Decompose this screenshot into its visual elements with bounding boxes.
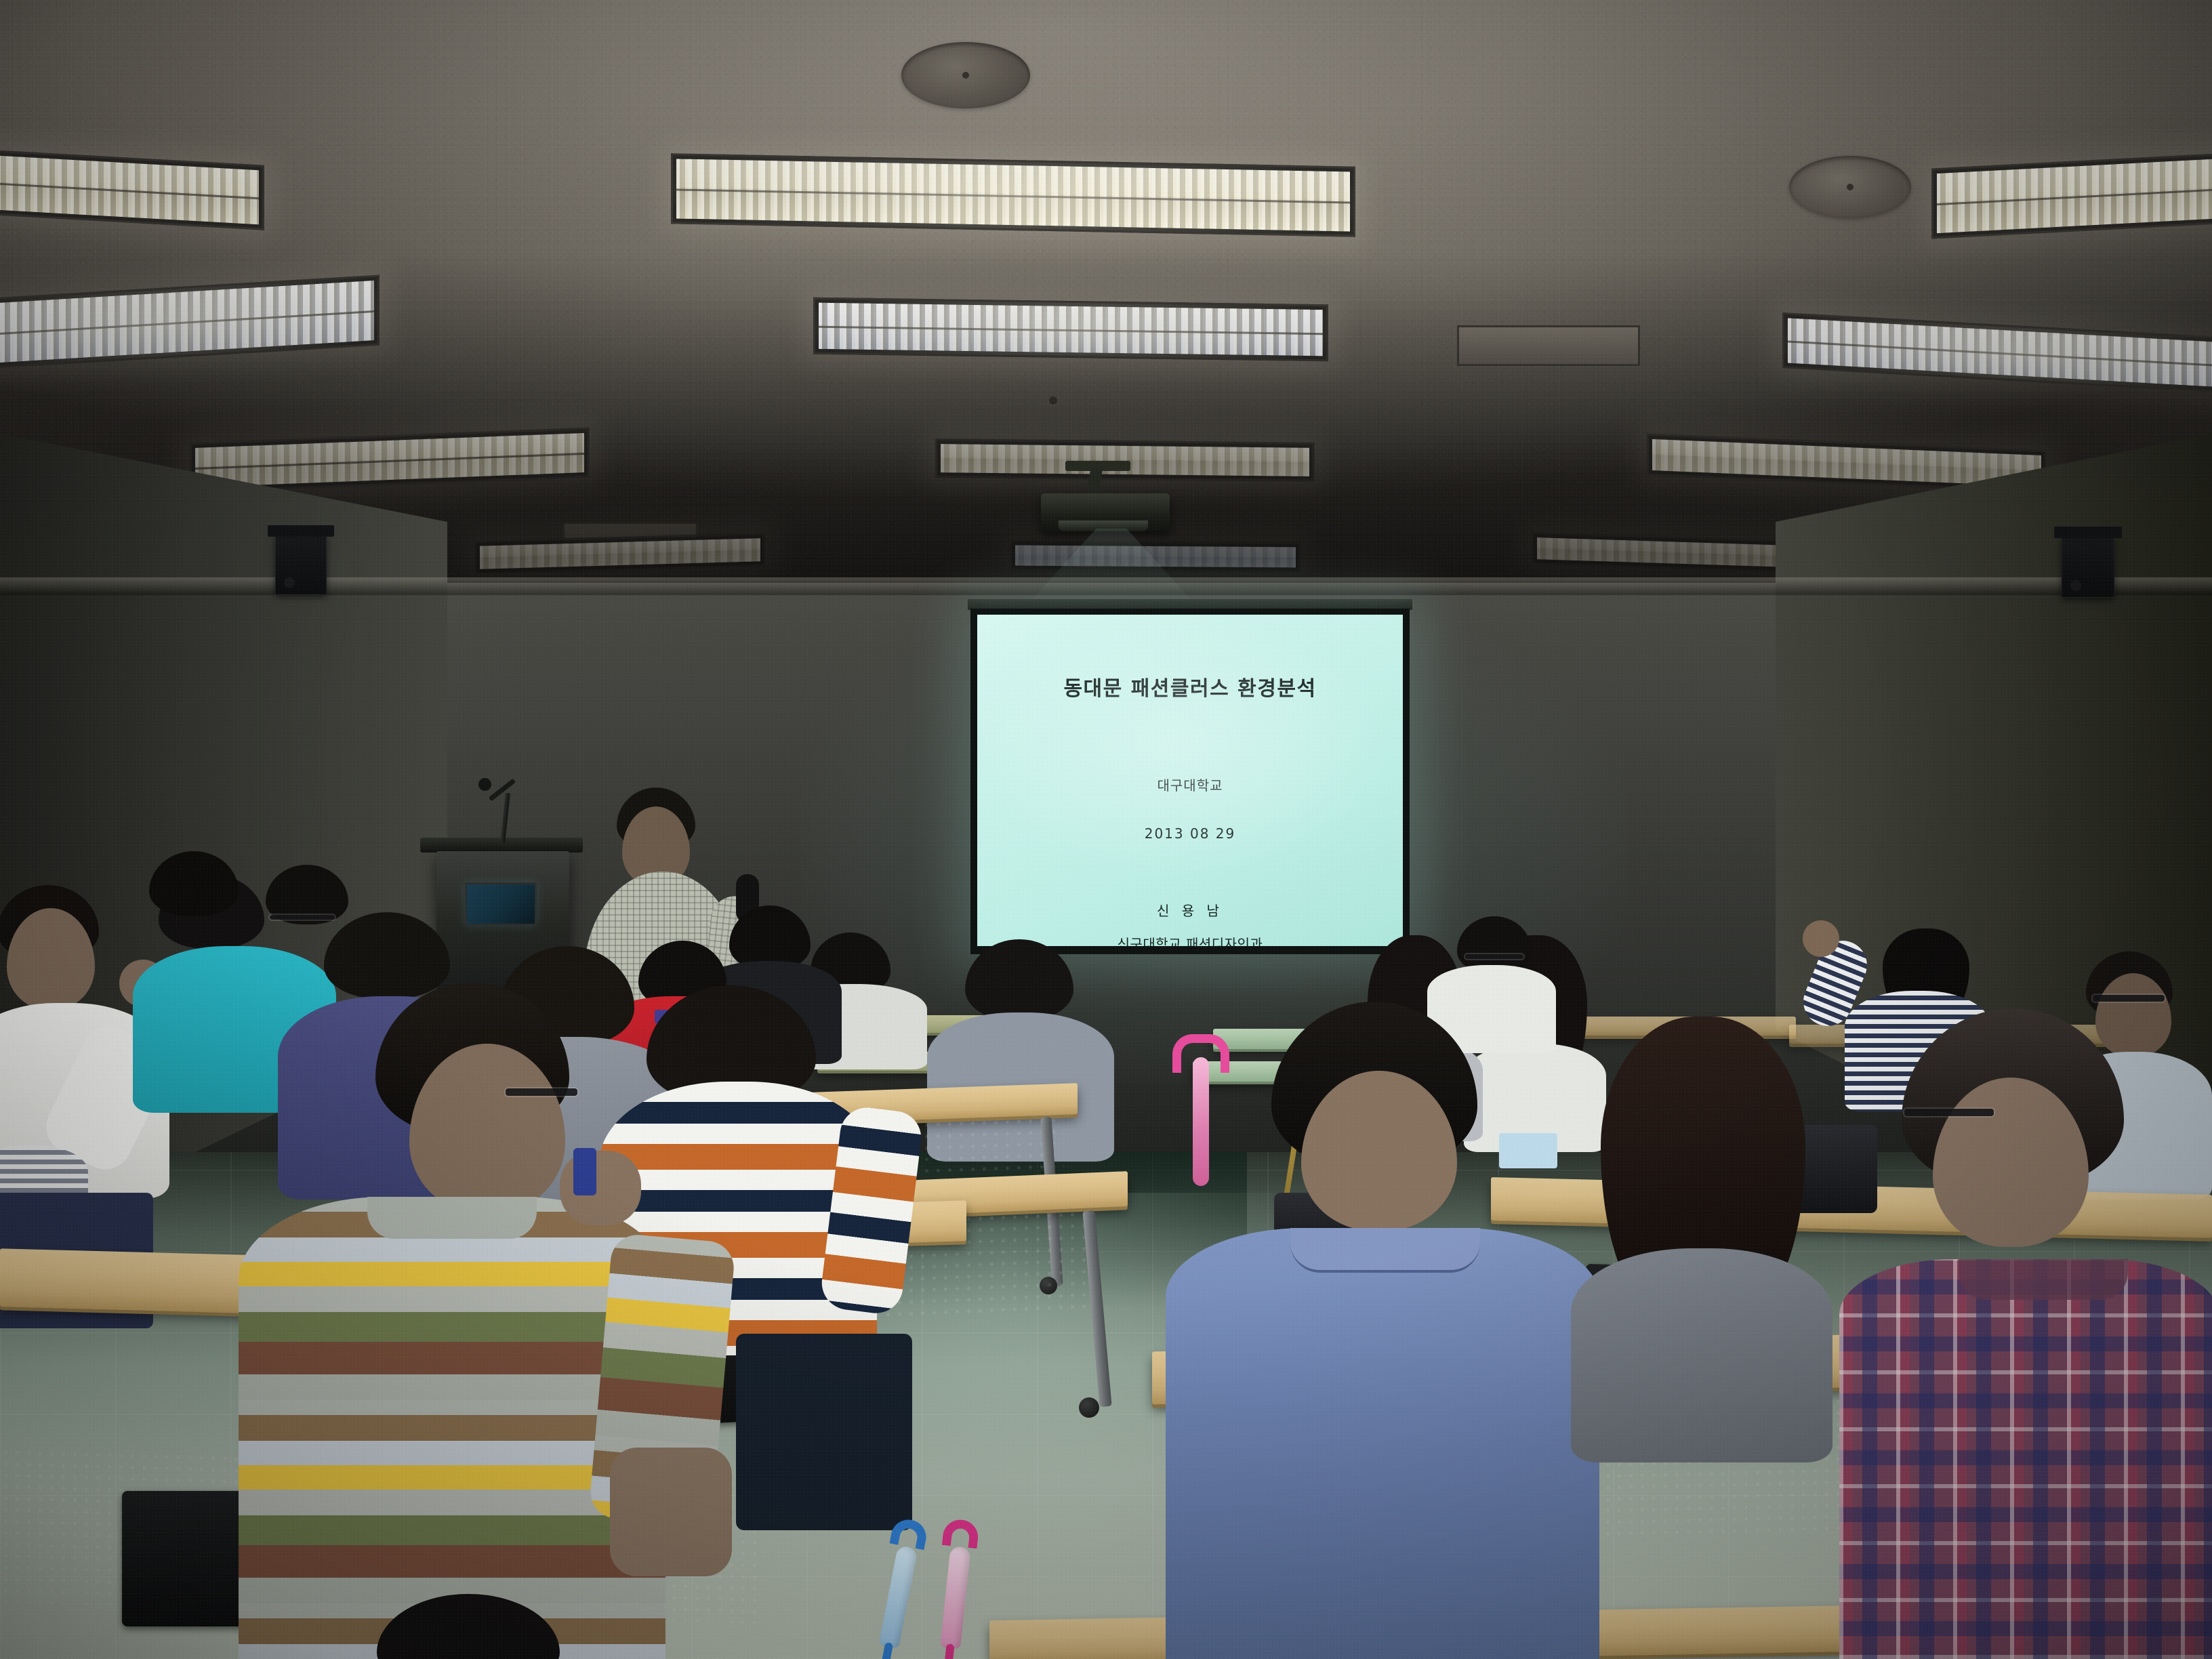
forearm <box>610 1448 732 1576</box>
slide-title: 동대문 패션클러스 환경분석 <box>1063 672 1316 701</box>
garment-detail <box>1499 1133 1557 1168</box>
microphone-icon <box>478 778 491 791</box>
shirt-collar <box>1959 1259 2128 1300</box>
wristband <box>573 1148 596 1195</box>
umbrella-pink-hooked <box>1193 1057 1209 1186</box>
wall-speaker-left-icon <box>275 535 327 595</box>
raised-hand <box>1803 920 1839 957</box>
slide-presenter: 신 용 남 <box>1157 900 1223 920</box>
polo-collar <box>367 1197 537 1239</box>
hand <box>560 1151 641 1225</box>
projection-screen-frame: 동대문 패션클러스 환경분석 대구대학교 2013 08 29 신 용 남 신구… <box>970 609 1410 954</box>
lecture-hall-photo: 동대문 패션클러스 환경분석 대구대학교 2013 08 29 신 용 남 신구… <box>0 0 2212 1659</box>
wall-speaker-right-icon <box>2062 537 2114 598</box>
desk-caster <box>1079 1397 1099 1418</box>
wall-soffit <box>0 577 2212 595</box>
slide-date: 2013 08 29 <box>1145 825 1236 842</box>
slide-affiliation-1: 신구대학교 패션디자인과 <box>1118 933 1263 946</box>
lectern-monitor <box>465 882 537 926</box>
slide-organization: 대구대학교 <box>1158 775 1223 794</box>
trousers <box>736 1334 912 1530</box>
polo-collar <box>1290 1228 1480 1273</box>
projection-screen: 동대문 패션클러스 환경분석 대구대학교 2013 08 29 신 용 남 신구… <box>977 615 1403 946</box>
projector-lens-icon <box>1059 520 1148 531</box>
